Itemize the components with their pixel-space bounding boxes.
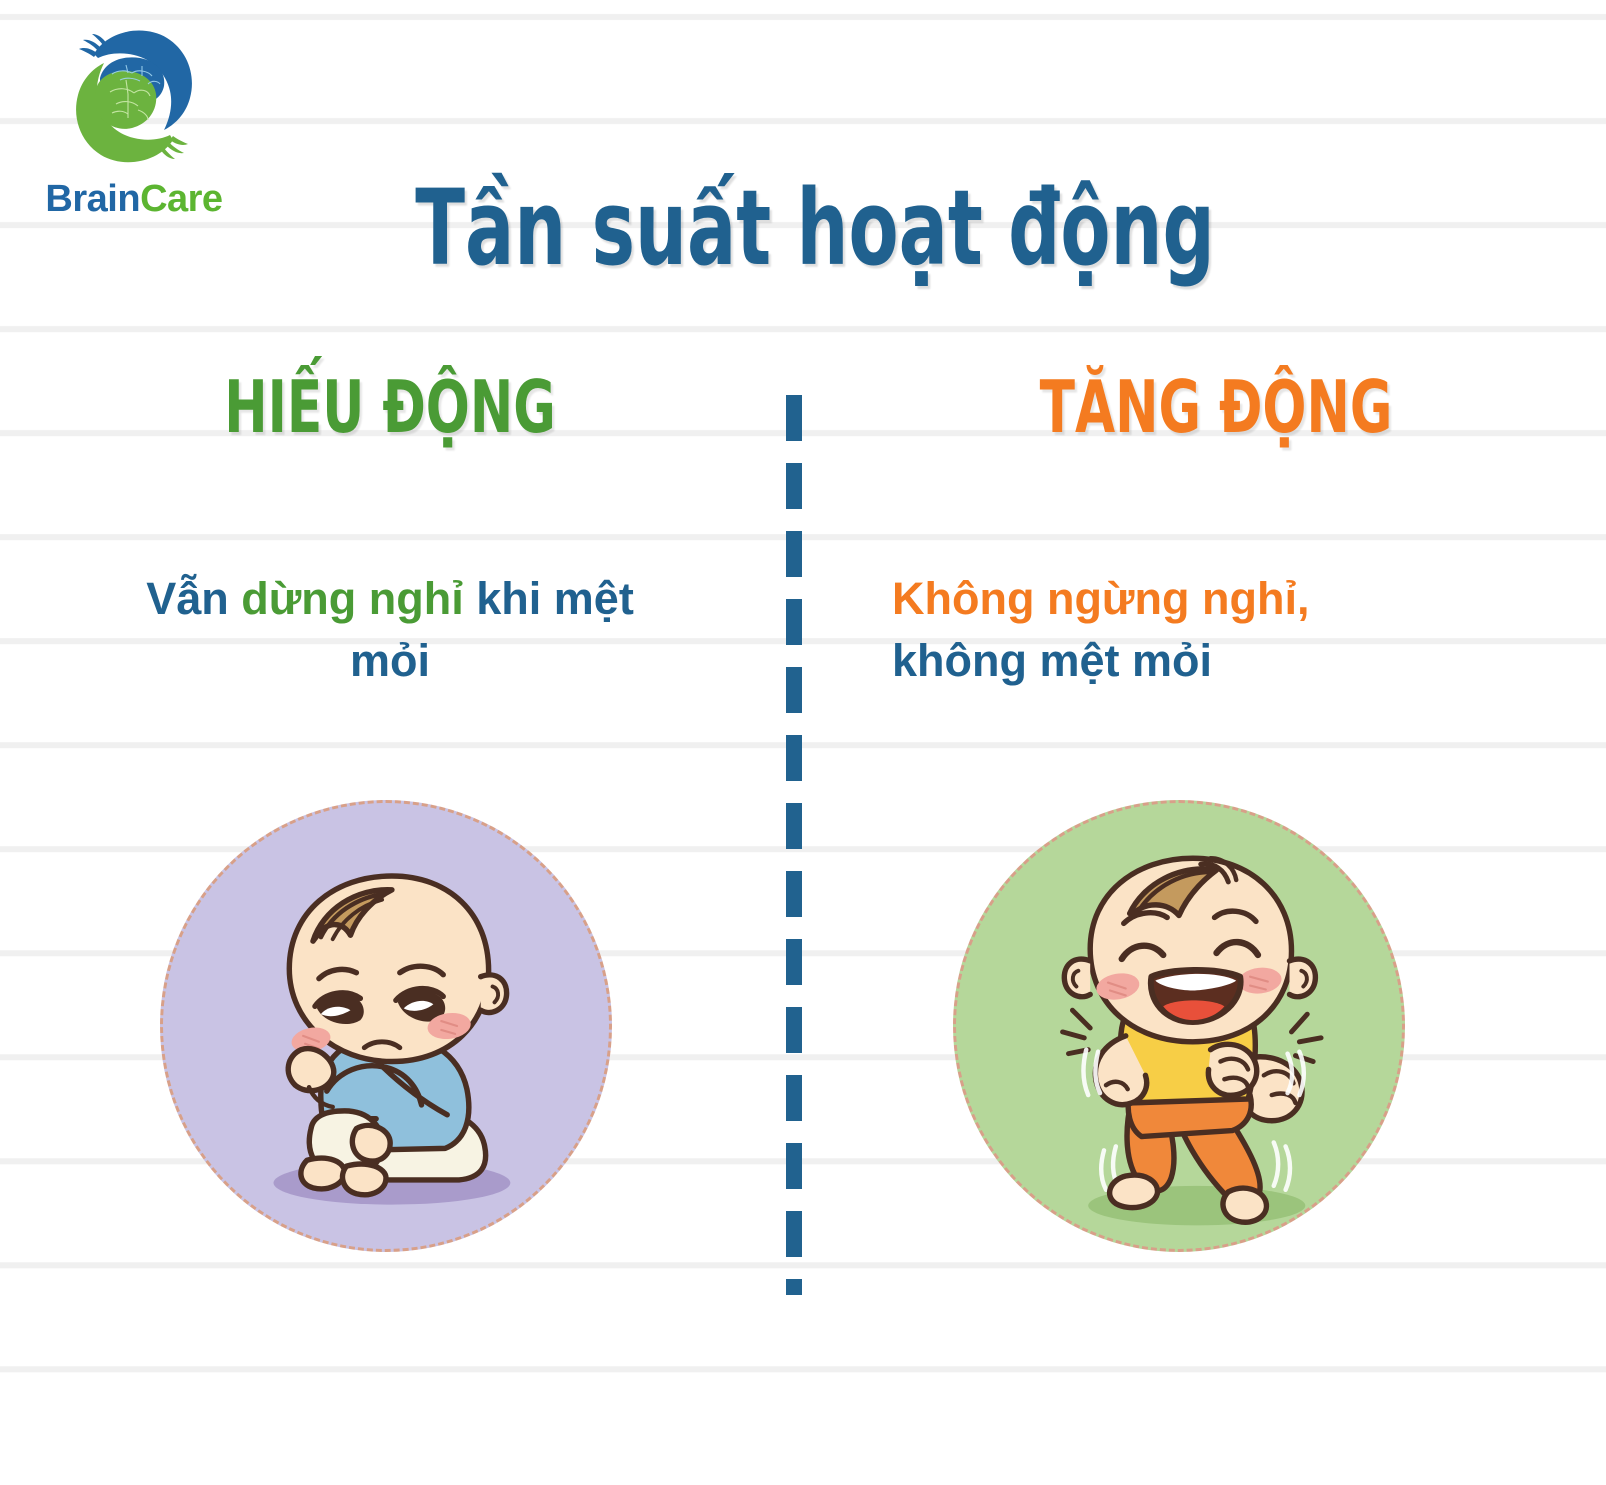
logo-text-brain: Brain xyxy=(45,178,140,220)
infographic-page: BrainCare Tần suất hoạt động HIẾU ĐỘNG V… xyxy=(0,0,1606,1485)
column-heading-hieu-dong: HIẾU ĐỘNG xyxy=(110,370,670,470)
energetic-running-baby-illustration xyxy=(953,800,1405,1252)
desc-part-khong-met-moi: không mệt mỏi xyxy=(892,635,1212,686)
column-description-hieu-dong: Vẫn dừng nghỉ khi mệt mỏi xyxy=(40,568,740,692)
braincare-wordmark: BrainCare xyxy=(12,178,256,221)
logo-text-care: Care xyxy=(140,178,223,220)
braincare-hands-brain-logo-icon xyxy=(60,18,208,176)
page-title: Tần suất hoạt động xyxy=(382,176,1248,280)
desc-part-khong-ngung-nghi: Không ngừng nghỉ, xyxy=(892,573,1309,624)
column-hieu-dong: HIẾU ĐỘNG Vẫn dừng nghỉ khi mệt mỏi xyxy=(40,370,740,692)
desc-part-van: Vẫn xyxy=(146,573,241,624)
tired-sitting-baby-illustration xyxy=(160,800,612,1252)
braincare-logo[interactable]: BrainCare xyxy=(12,18,256,230)
column-tang-dong: TĂNG ĐỘNG Không ngừng nghỉ, không mệt mỏ… xyxy=(866,370,1566,692)
desc-part-dung-nghi: dừng nghỉ xyxy=(241,573,476,624)
vertical-dashed-divider xyxy=(786,395,802,1295)
column-heading-tang-dong: TĂNG ĐỘNG xyxy=(936,370,1496,470)
column-description-tang-dong: Không ngừng nghỉ, không mệt mỏi xyxy=(866,568,1566,692)
